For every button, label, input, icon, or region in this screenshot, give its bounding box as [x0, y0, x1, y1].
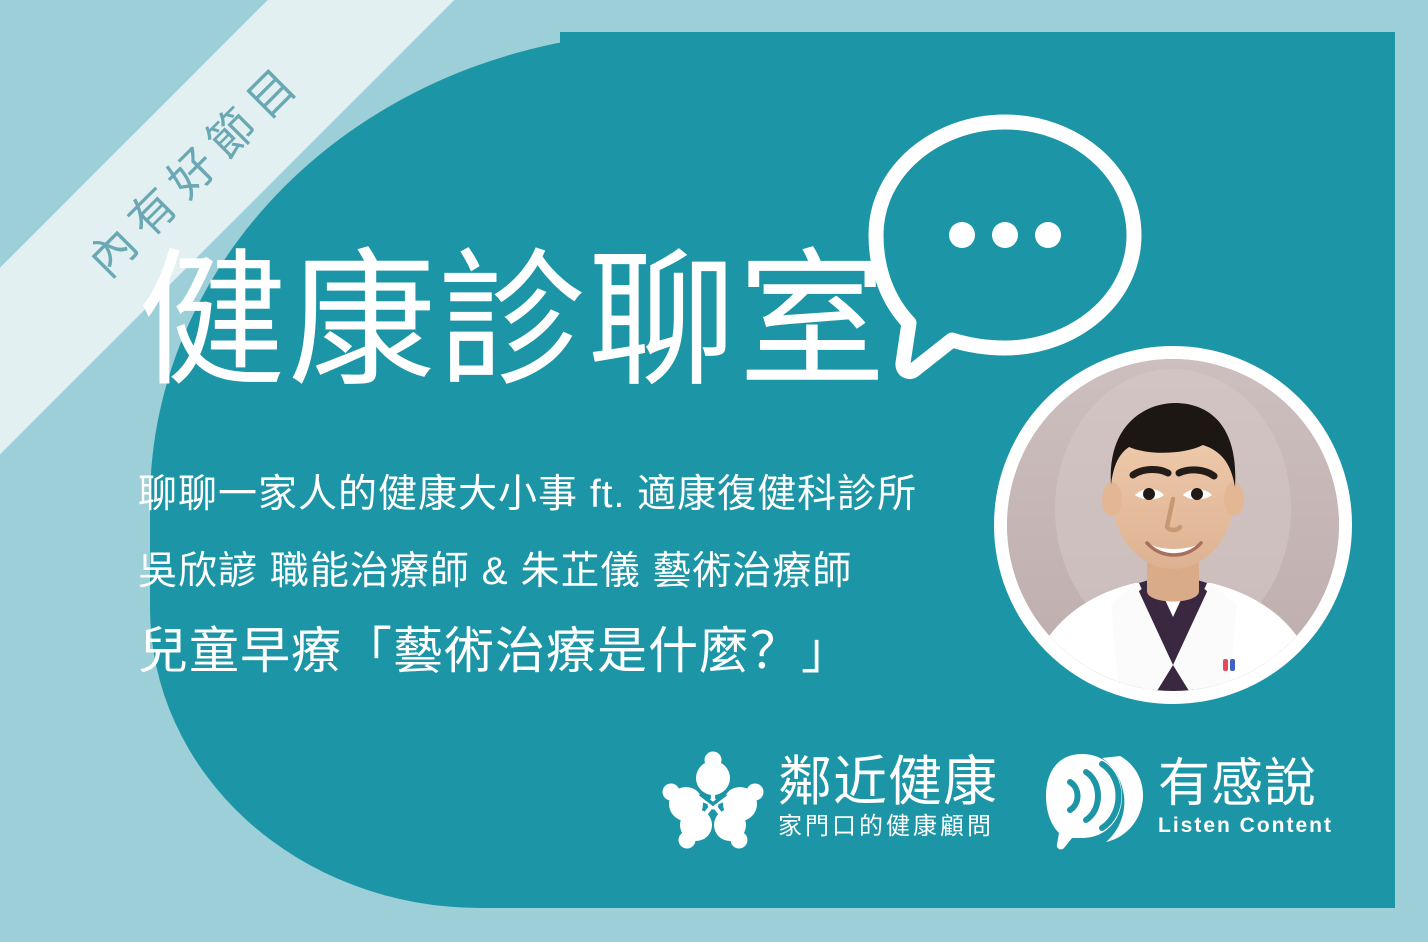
page-title: 健康診聊室 [138, 248, 888, 396]
brand-name: 鄰近健康 [778, 755, 998, 809]
avatar [1007, 359, 1339, 691]
brand-tagline: Listen Content [1158, 810, 1333, 842]
brand-text-block: 鄰近健康 家門口的健康顧問 [778, 755, 998, 845]
brand-logo-linjin-health: 鄰近健康 家門口的健康顧問 [660, 748, 998, 852]
speech-bubble-ellipsis-icon [862, 108, 1148, 394]
footer-logos: 鄰近健康 家門口的健康顧問 [660, 748, 1333, 852]
subtitle-line-3: 兒童早療「藝術治療是什麼？」 [138, 611, 852, 683]
subtitle-line-1: 聊聊一家人的健康大小事 ft. 適康復健科診所 [138, 463, 917, 519]
brand-name: 有感說 [1158, 758, 1333, 810]
star-network-icon [660, 748, 766, 852]
podcast-cover-poster: 內有好節目 [0, 0, 1428, 942]
presenter-portrait [994, 346, 1352, 704]
sound-wave-bubble-icon [1042, 750, 1146, 850]
subtitle-line-2: 吳欣諺 職能治療師 & 朱芷儀 藝術治療師 [138, 540, 852, 596]
brand-text-block: 有感說 Listen Content [1158, 758, 1333, 842]
brand-logo-listen-content: 有感說 Listen Content [1042, 750, 1333, 850]
brand-tagline: 家門口的健康顧問 [778, 809, 998, 845]
